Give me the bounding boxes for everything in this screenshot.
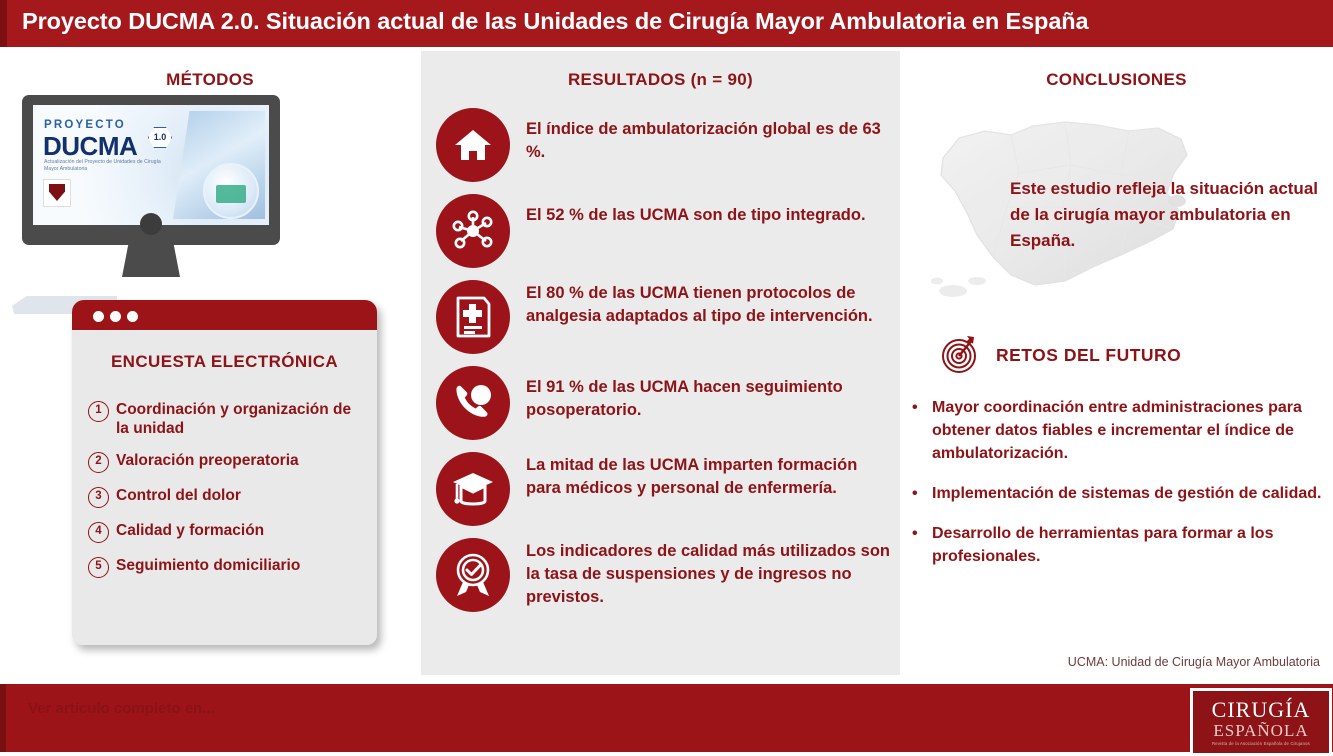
quality-award-icon xyxy=(436,538,510,612)
step-number-badge: 4 xyxy=(88,522,109,543)
challenge-bullet-item: •Desarrollo de herramientas para formar … xyxy=(912,522,1324,568)
step-number-badge: 5 xyxy=(88,557,109,578)
page-title: Proyecto DUCMA 2.0. Situación actual de … xyxy=(22,8,1322,35)
window-dot-icon xyxy=(110,311,121,322)
section-title-results: RESULTADOS (n = 90) xyxy=(421,70,900,90)
step-label: Coordinación y organización de la unidad xyxy=(116,400,368,438)
survey-step-item: 5Seguimiento domiciliario xyxy=(88,556,368,578)
footer-faint-text: Ver artículo completo en... xyxy=(28,700,328,717)
monitor-screen: PROYECTO DUCMA 1.0 Actualización del Pro… xyxy=(33,105,269,225)
step-number-badge: 3 xyxy=(88,487,109,508)
monitor-power-knob xyxy=(140,213,162,235)
future-challenges-label: RETOS DEL FUTURO xyxy=(996,345,1181,366)
network-nodes-icon xyxy=(436,194,510,268)
survey-card: ENCUESTA ELECTRÓNICA 1Coordinación y org… xyxy=(72,300,377,645)
result-item: Los indicadores de calidad más utilizado… xyxy=(436,538,896,612)
cirugia-espanola-logo: CIRUGÍA ESPAÑOLA Revista de la Asociació… xyxy=(1190,688,1332,756)
result-text: Los indicadores de calidad más utilizado… xyxy=(526,538,896,609)
result-text: El 52 % de las UCMA son de tipo integrad… xyxy=(526,194,896,227)
section-title-conclusions: CONCLUSIONES xyxy=(900,70,1333,90)
window-dot-icon xyxy=(127,311,138,322)
result-item: El índice de ambulatorización global es … xyxy=(436,108,896,182)
ucma-footnote: UCMA: Unidad de Cirugía Mayor Ambulatori… xyxy=(900,655,1320,669)
footer-bar xyxy=(0,684,1333,752)
medical-document-icon xyxy=(436,280,510,354)
monitor-stand xyxy=(122,241,180,277)
survey-step-item: 4Calidad y formación xyxy=(88,521,368,543)
bullet-marker-icon: • xyxy=(912,396,932,419)
logo-line-2: ESPAÑOLA xyxy=(1213,721,1308,740)
step-number-badge: 1 xyxy=(88,401,109,422)
result-item: La mitad de las UCMA imparten formación … xyxy=(436,452,896,526)
header-bar: Proyecto DUCMA 2.0. Situación actual de … xyxy=(0,0,1333,47)
magnifier-inner-shape xyxy=(216,185,246,203)
challenge-bullet-text: Implementación de sistemas de gestión de… xyxy=(932,482,1324,505)
step-label: Seguimiento domiciliario xyxy=(116,556,368,575)
infographic-poster: Proyecto DUCMA 2.0. Situación actual de … xyxy=(0,0,1333,752)
future-challenges-list: •Mayor coordinación entre administracion… xyxy=(912,396,1324,585)
bullet-marker-icon: • xyxy=(912,522,932,545)
logo-line-1: CIRUGÍA xyxy=(1212,699,1311,721)
ducma-subtitle: Actualización del Proyecto de Unidades d… xyxy=(44,159,164,172)
window-dot-icon xyxy=(93,311,104,322)
section-title-methods: MÉTODOS xyxy=(0,70,420,90)
bullet-marker-icon: • xyxy=(912,482,932,505)
survey-card-titlebar xyxy=(72,300,377,330)
challenge-bullet-text: Desarrollo de herramientas para formar a… xyxy=(932,522,1324,568)
survey-step-item: 3Control del dolor xyxy=(88,486,368,508)
challenge-bullet-text: Mayor coordinación entre administracione… xyxy=(932,396,1324,465)
magnifier-circle-icon xyxy=(203,163,259,219)
graduation-cap-icon xyxy=(436,452,510,526)
target-dart-icon xyxy=(936,330,982,381)
survey-step-item: 2Valoración preoperatoria xyxy=(88,451,368,473)
phone-call-icon xyxy=(436,366,510,440)
result-item: El 91 % de las UCMA hacen seguimiento po… xyxy=(436,366,896,440)
aec-logo-icon xyxy=(43,179,71,207)
challenge-bullet-item: •Mayor coordinación entre administracion… xyxy=(912,396,1324,465)
conclusion-statement: Este estudio refleja la situación actual… xyxy=(1010,176,1330,254)
monitor-frame: PROYECTO DUCMA 1.0 Actualización del Pro… xyxy=(22,95,280,245)
result-item: El 80 % de las UCMA tienen protocolos de… xyxy=(436,280,896,354)
result-text: El 91 % de las UCMA hacen seguimiento po… xyxy=(526,366,896,422)
computer-monitor-illustration: PROYECTO DUCMA 1.0 Actualización del Pro… xyxy=(22,95,280,245)
results-list: El índice de ambulatorización global es … xyxy=(436,108,896,624)
survey-step-item: 1Coordinación y organización de la unida… xyxy=(88,400,368,438)
result-text: El índice de ambulatorización global es … xyxy=(526,108,896,164)
result-item: El 52 % de las UCMA son de tipo integrad… xyxy=(436,194,896,268)
step-label: Valoración preoperatoria xyxy=(116,451,368,470)
future-challenges-heading: RETOS DEL FUTURO xyxy=(936,330,1181,381)
result-text: La mitad de las UCMA imparten formación … xyxy=(526,452,896,500)
survey-steps-list: 1Coordinación y organización de la unida… xyxy=(88,400,368,591)
challenge-bullet-item: •Implementación de sistemas de gestión d… xyxy=(912,482,1324,505)
step-label: Calidad y formación xyxy=(116,521,368,540)
step-number-badge: 2 xyxy=(88,452,109,473)
step-label: Control del dolor xyxy=(116,486,368,505)
ducma-brand-main: DUCMA xyxy=(43,131,137,162)
ducma-brand-top: PROYECTO xyxy=(44,119,126,131)
home-icon xyxy=(436,108,510,182)
survey-card-title: ENCUESTA ELECTRÓNICA xyxy=(72,352,377,372)
logo-line-3: Revista de la Asociación Española de Cir… xyxy=(1212,741,1310,746)
result-text: El 80 % de las UCMA tienen protocolos de… xyxy=(526,280,896,328)
